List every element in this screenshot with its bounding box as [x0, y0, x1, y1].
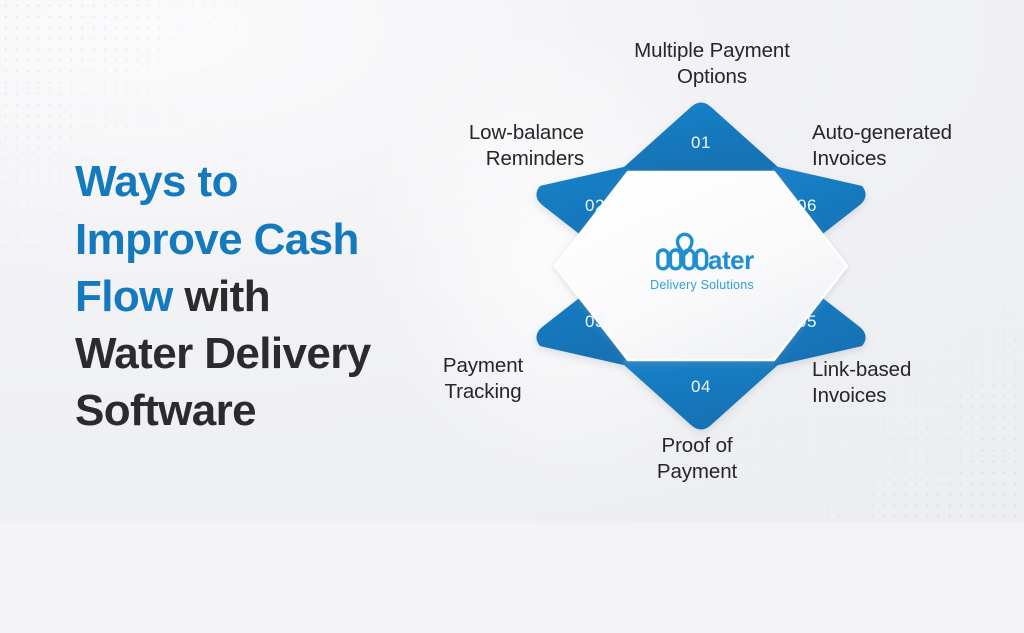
star-label-05-line2: Invoices: [812, 384, 886, 407]
star-number-03: 03: [585, 312, 605, 331]
star-label-06-line2: Invoices: [812, 147, 886, 170]
star-label-06: Auto-generated Invoices: [812, 120, 1012, 172]
star-label-02-line1: Low-balance: [469, 121, 584, 144]
star-label-06-line1: Auto-generated: [812, 121, 952, 144]
star-number-05: 05: [797, 312, 817, 331]
title-accent-line-1: Ways to: [75, 157, 238, 206]
star-label-03-line2: Tracking: [444, 380, 521, 403]
title-dark-line-5: Software: [75, 386, 256, 435]
star-number-02: 02: [585, 196, 605, 215]
star-label-04-line1: Proof of: [662, 434, 733, 457]
star-number-01: 01: [691, 133, 711, 152]
star-number-06: 06: [797, 196, 817, 215]
title-accent-line-3: Flow: [75, 272, 173, 321]
star-label-03-line1: Payment: [443, 354, 523, 377]
star-label-03: Payment Tracking: [400, 353, 566, 405]
star-label-01: Multiple Payment Options: [582, 38, 842, 90]
star-label-02-line2: Reminders: [486, 147, 584, 170]
star-label-01-line1: Multiple Payment: [634, 39, 790, 62]
star-label-02: Low-balance Reminders: [404, 120, 584, 172]
title-dark-with: with: [173, 272, 270, 321]
star-label-05: Link-based Invoices: [812, 357, 1012, 409]
star-number-04: 04: [691, 377, 711, 396]
title-accent-line-2: Improve Cash: [75, 215, 359, 264]
title-dark-line-4: Water Delivery: [75, 329, 371, 378]
star-label-04-line2: Payment: [657, 460, 737, 483]
star-label-05-line1: Link-based: [812, 358, 911, 381]
star-label-04: Proof of Payment: [592, 433, 802, 485]
star-label-01-line2: Options: [677, 65, 747, 88]
